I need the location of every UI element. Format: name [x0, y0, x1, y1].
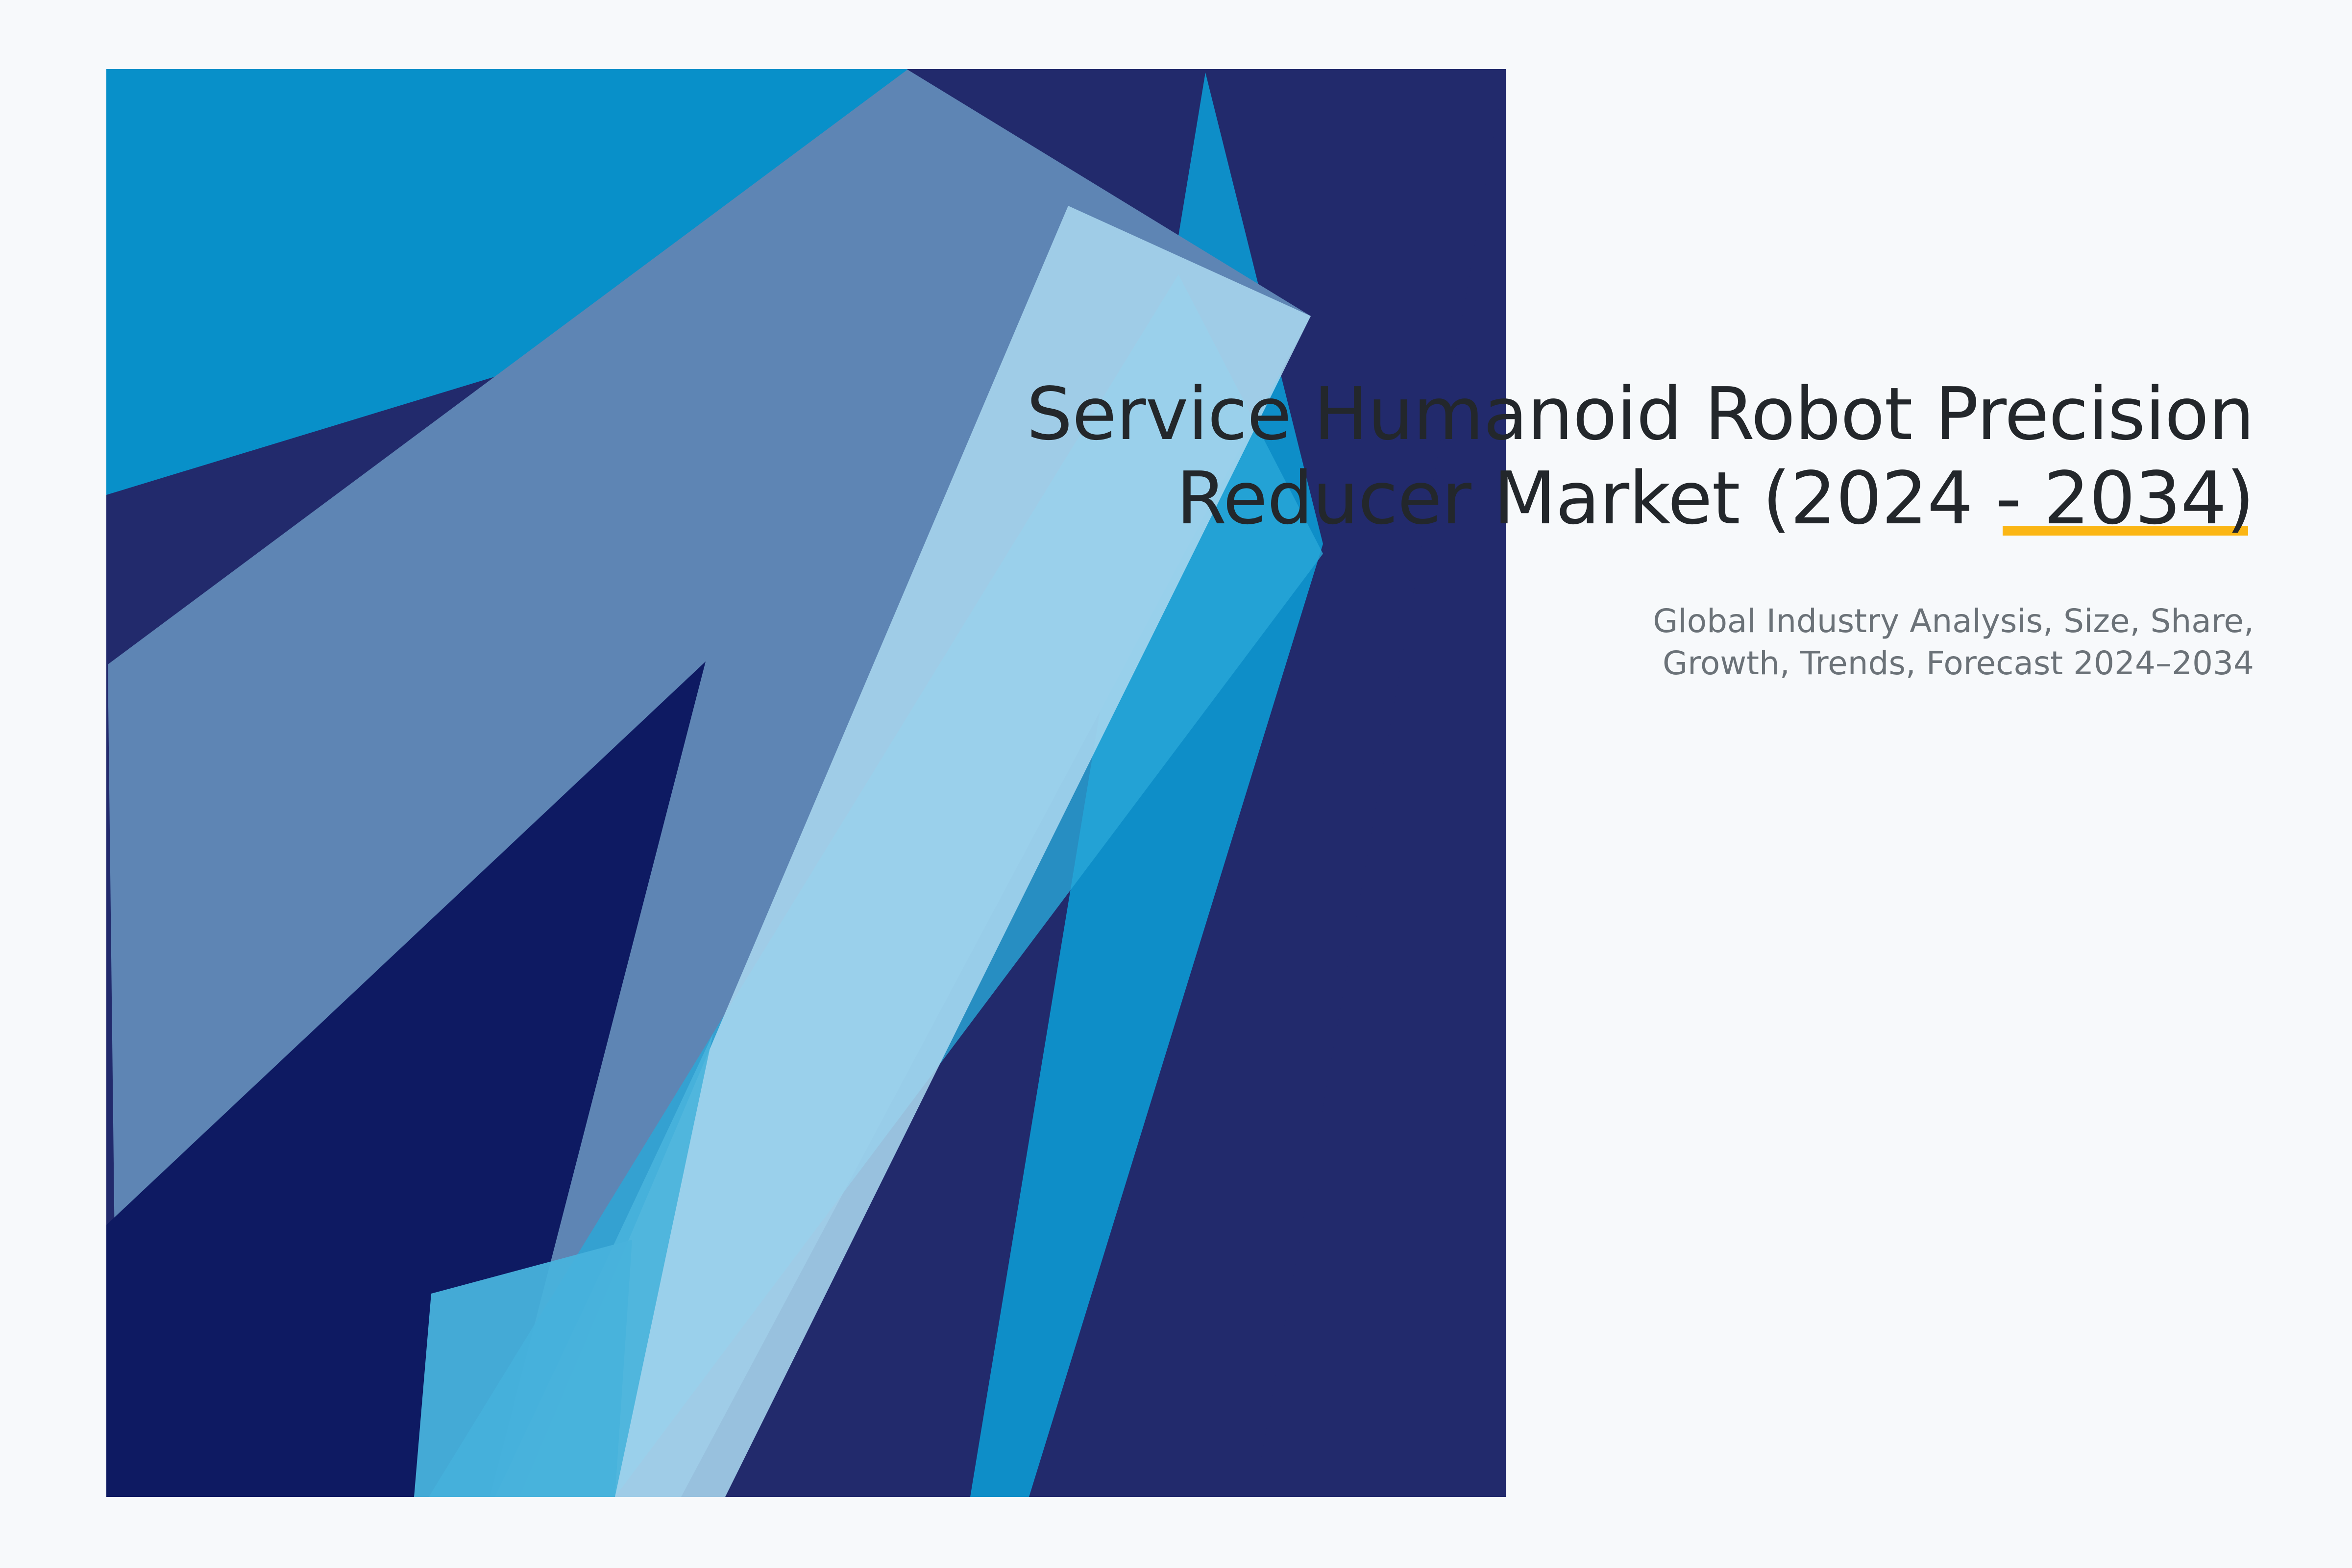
cover-artwork	[0, 0, 2352, 1568]
page-subtitle-line-1: Global Industry Analysis, Size, Share,	[1653, 602, 2254, 640]
page-title: Service Humanoid Robot Precision Reducer…	[931, 372, 2254, 540]
page-title-line-2: Reducer Market (2024 - 2034)	[1176, 456, 2254, 540]
cover-text-block: Service Humanoid Robot Precision Reducer…	[931, 372, 2254, 685]
page-subtitle: Global Industry Analysis, Size, Share, G…	[931, 600, 2254, 685]
report-cover-page: Service Humanoid Robot Precision Reducer…	[0, 0, 2352, 1568]
page-title-line-1: Service Humanoid Robot Precision	[1027, 372, 2254, 456]
page-subtitle-line-2: Growth, Trends, Forecast 2024–2034	[1663, 644, 2254, 682]
